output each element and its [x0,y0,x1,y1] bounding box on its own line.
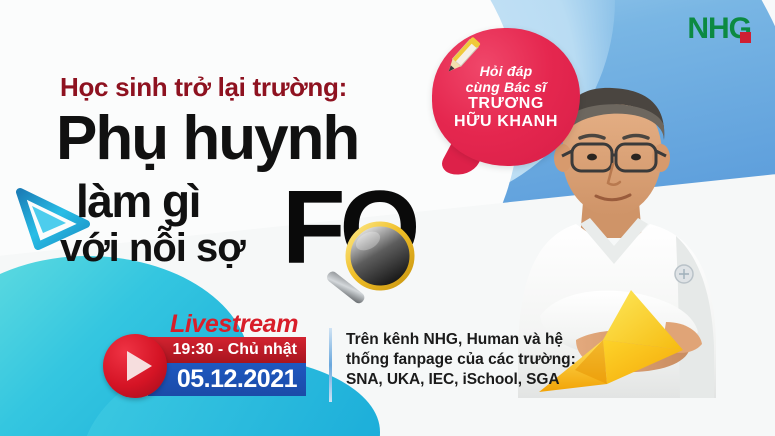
headline-line-1: Phụ huynh [56,108,358,170]
headline-line-3: với nỗi sợ [60,228,245,268]
channel-line-3: SNA, UKA, IEC, iSchool, SGA [346,370,586,390]
badge-line-4: HỮU KHANH [454,113,558,131]
channel-line-2: thống fanpage của các trường: [346,350,586,370]
play-button[interactable] [103,334,167,398]
channel-line-1: Trên kênh NHG, Human và hệ [346,330,586,350]
nhg-logo: NHG [687,14,751,44]
logo-text: NH [687,12,728,45]
channel-info: Trên kênh NHG, Human và hệ thống fanpage… [346,330,586,389]
play-triangle-icon [127,351,152,381]
page-eyebrow: Học sinh trở lại trường: [60,72,347,103]
pencil-icon [438,34,484,80]
livestream-label: Livestream [170,310,298,339]
headline-line-2: làm gì [76,178,200,224]
logo-text-g: G [729,14,751,44]
magnifying-glass-icon [316,216,436,316]
livestream-date: 05.12.2021 [148,363,306,396]
livestream-poster: Hỏi đáp cùng Bác sĩ TRƯƠNG HỮU KHANH NHG [0,0,775,436]
badge-line-1: Hỏi đáp [480,63,533,79]
vertical-divider [329,328,332,402]
livestream-time: 19:30 - Chủ nhật [148,337,306,363]
badge-line-3: TRƯƠNG [468,95,544,113]
badge-line-2: cùng Bác sĩ [466,79,547,95]
